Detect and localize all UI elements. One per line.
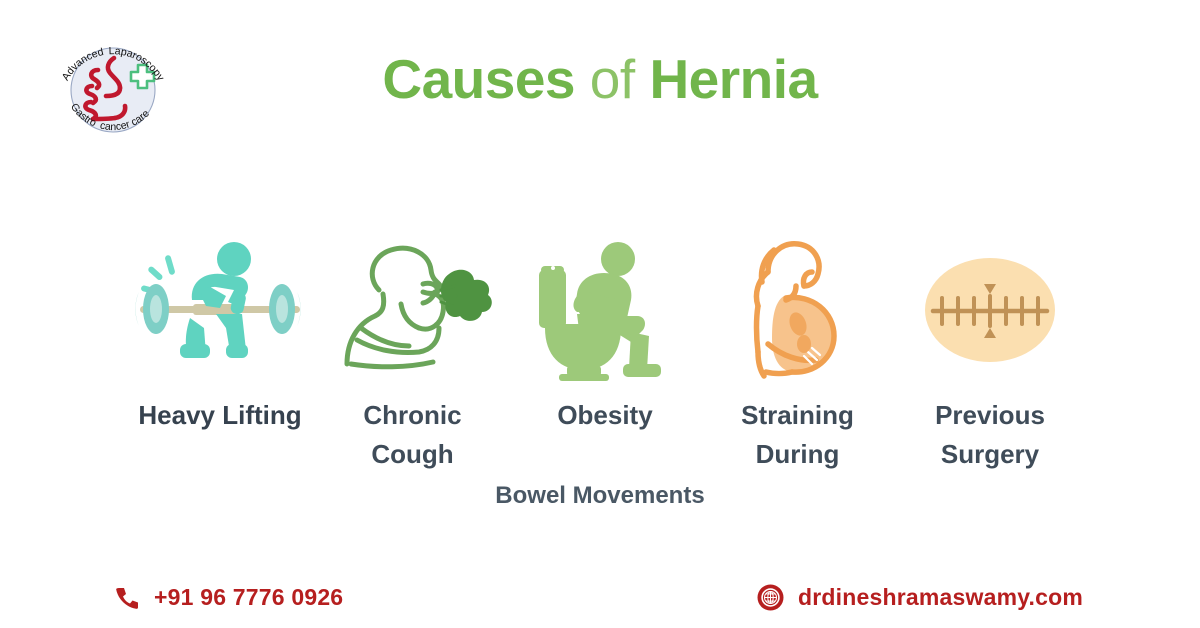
globe-icon <box>757 584 784 611</box>
cause-art <box>323 232 503 382</box>
page-title: Causes of Hernia <box>0 44 1200 114</box>
cause-label: Straining During <box>741 396 854 474</box>
page-title-part2: of <box>590 48 635 110</box>
cause-straining: Straining During <box>708 232 888 474</box>
chronic-cough-icon <box>323 232 503 382</box>
cause-label-line: Chronic <box>363 396 461 435</box>
cause-label: Chronic Cough <box>363 396 461 474</box>
cause-heavy-lifting: Heavy Lifting <box>130 232 310 435</box>
bowel-movements-label: Bowel Movements <box>0 479 1200 513</box>
cause-label-line: Previous <box>935 396 1045 435</box>
cause-label-line: Heavy Lifting <box>138 396 301 435</box>
cause-label-line: Straining <box>741 396 854 435</box>
phone-icon <box>114 585 140 611</box>
pregnancy-straining-icon <box>708 232 888 382</box>
cause-obesity: Obesity <box>515 232 695 435</box>
cough-figure <box>347 248 444 367</box>
cause-art <box>708 232 888 382</box>
lifter-figure <box>180 242 251 358</box>
cause-label-line: During <box>741 435 854 474</box>
footer-website-text: drdineshramaswamy.com <box>798 584 1083 611</box>
footer-website[interactable]: drdineshramaswamy.com <box>757 584 1083 611</box>
cause-chronic-cough: Chronic Cough <box>323 232 503 474</box>
surgery-scar-icon <box>900 232 1080 382</box>
cause-art <box>130 232 310 382</box>
heavy-lifting-icon <box>130 232 310 382</box>
obesity-toilet-icon <box>515 232 695 382</box>
cause-label: Heavy Lifting <box>138 396 301 435</box>
cause-art <box>515 232 695 382</box>
page-title-part3: Hernia <box>649 48 817 110</box>
cause-label: Obesity <box>557 396 652 435</box>
cause-label-line: Cough <box>363 435 461 474</box>
footer-phone-text: +91 96 7776 0926 <box>154 584 343 611</box>
cause-previous-surgery: Previous Surgery <box>900 232 1080 474</box>
page-title-part1: Causes <box>382 48 575 110</box>
cause-label: Previous Surgery <box>935 396 1045 474</box>
cause-art <box>900 232 1080 382</box>
cause-label-line: Obesity <box>557 396 652 435</box>
cause-label-line: Surgery <box>935 435 1045 474</box>
footer-phone[interactable]: +91 96 7776 0926 <box>114 584 343 611</box>
stitches <box>942 296 1038 326</box>
